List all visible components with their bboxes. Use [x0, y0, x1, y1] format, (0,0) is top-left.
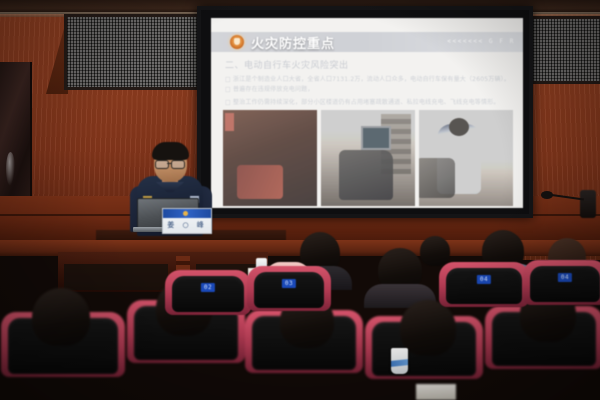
- slide-title: 火灾防控重点: [251, 33, 335, 52]
- slide-surface: 火灾防控重点 <<<<<<< G F R 二、电动自行车火灾风险突出 □ 浙江是…: [211, 18, 523, 208]
- photo-burned-ebike: [223, 110, 317, 206]
- glasses-bridge-icon: [167, 163, 171, 164]
- slide-subtitle: 二、电动自行车火灾风险突出: [225, 58, 349, 71]
- acoustic-mesh-panel-right: [524, 16, 600, 84]
- name-placard: 姜 ○ 峰: [162, 208, 212, 234]
- seat-frame: [165, 270, 251, 315]
- speaker-hair: [152, 142, 189, 160]
- photo-inspector-checking: [419, 110, 513, 206]
- door-highlight: [6, 152, 15, 186]
- lecture-hall-photo: 火灾防控重点 <<<<<<< G F R 二、电动自行车火灾风险突出 □ 浙江是…: [0, 0, 600, 400]
- glasses-lens-left-icon: [155, 160, 169, 169]
- hall-door[interactable]: [0, 62, 32, 212]
- paper-cup[interactable]: [391, 348, 408, 374]
- seat[interactable]: 04: [530, 266, 600, 302]
- panel-detail: [361, 126, 391, 150]
- slide-bullet-2: □ 普遍存在违规停放充电问题，: [225, 84, 314, 93]
- handout-papers: [416, 384, 456, 400]
- glasses-lens-right-icon: [171, 160, 185, 169]
- photo-corridor-charging: [321, 110, 415, 206]
- placard-color-band: [163, 209, 211, 218]
- seat[interactable]: 04: [446, 268, 522, 304]
- microphone-base: [580, 190, 596, 218]
- seat-frame: [523, 260, 600, 305]
- seat[interactable]: 03: [254, 272, 324, 308]
- podium-panel-left: [64, 264, 168, 290]
- inspector-head: [449, 118, 469, 136]
- seat[interactable]: 02: [172, 276, 244, 312]
- slide-brand-mark: <<<<<<< G F R: [447, 38, 515, 45]
- audience-head: [420, 236, 450, 266]
- seat-number-badge: 02: [201, 283, 215, 292]
- audience-head-front: [400, 300, 456, 356]
- seat-number-badge: 04: [477, 275, 491, 284]
- seat-frame: [247, 266, 331, 311]
- fire-service-emblem-icon: [230, 35, 244, 49]
- seat-number-badge: 04: [558, 273, 572, 282]
- slide-bullet-1: □ 浙江是个制造业人口大省，全省人口7131.2万，流动人口众多，电动自行车保有…: [225, 74, 510, 83]
- audience-head-front: [32, 288, 90, 346]
- acoustic-mesh-panel-left: [64, 14, 210, 90]
- microphone-head-icon: [541, 191, 553, 199]
- ebike-detail-2: [419, 158, 455, 198]
- ebike-detail: [339, 150, 393, 200]
- slide-photo-strip: [223, 110, 513, 206]
- projection-screen: 火灾防控重点 <<<<<<< G F R 二、电动自行车火灾风险突出 □ 浙江是…: [197, 6, 533, 218]
- seat-number-badge: 03: [282, 279, 296, 288]
- slide-bullet-3: □ 整治工作仍需持续深化，部分小区楼道仍有占用堵塞疏散通道、私拉电线充电、飞线充…: [225, 97, 500, 106]
- placard-name-text: 姜 ○ 峰: [163, 220, 211, 230]
- seat-frame: [439, 262, 529, 307]
